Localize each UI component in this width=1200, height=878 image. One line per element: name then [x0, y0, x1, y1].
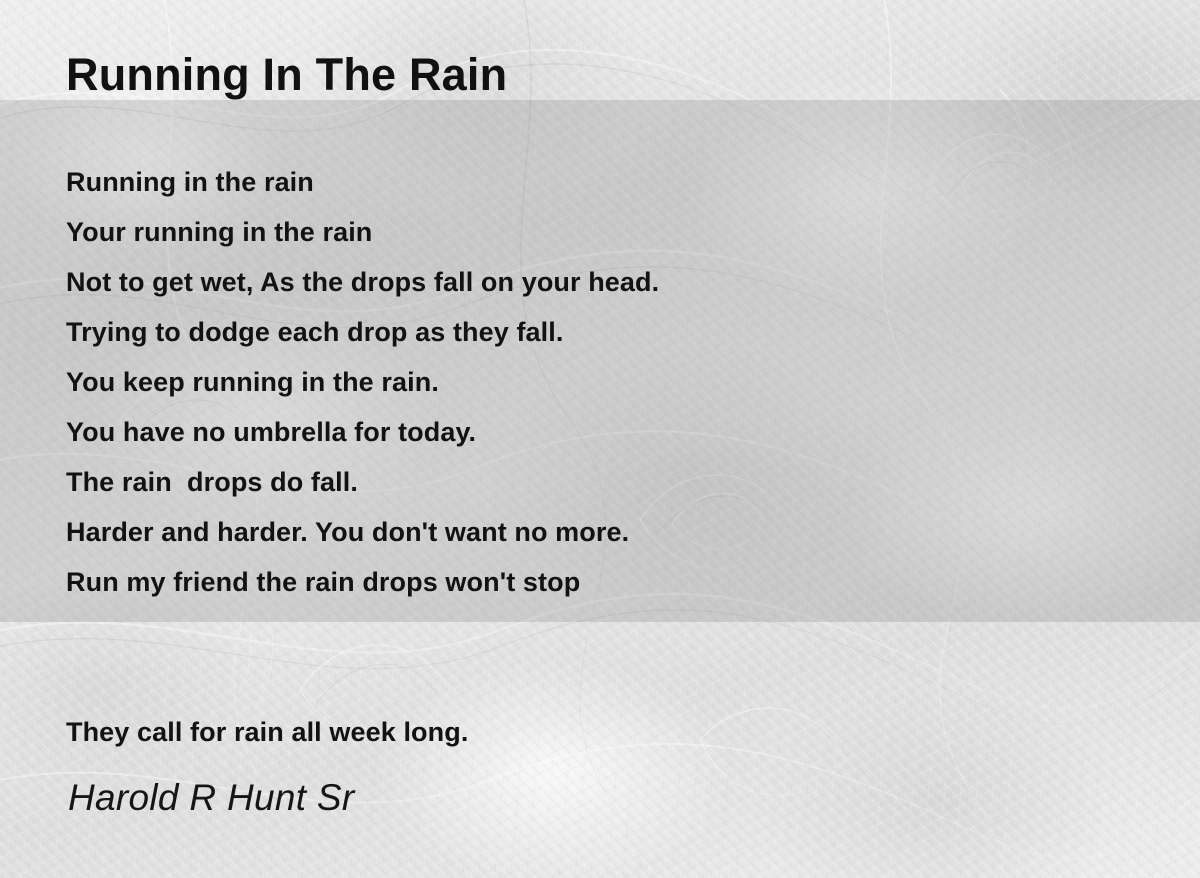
poem-line: You have no umbrella for today. — [66, 407, 1066, 457]
poem-line: Harder and harder. You don't want no mor… — [66, 507, 1066, 557]
poem-line: Run my friend the rain drops won't stop — [66, 557, 1066, 607]
poem-line-blank — [66, 607, 1066, 657]
poem-content: Running In The Rain Running in the rain … — [0, 0, 1200, 878]
poem-line: Running in the rain — [66, 157, 1066, 207]
poem-line: They call for rain all week long. — [66, 707, 1066, 757]
poem-line: Your running in the rain — [66, 207, 1066, 257]
poem-line: Not to get wet, As the drops fall on you… — [66, 257, 1066, 307]
author-signature: Harold R Hunt Sr — [68, 777, 355, 819]
poem-card: Running In The Rain Running in the rain … — [0, 0, 1200, 878]
page-title: Running In The Rain — [66, 49, 507, 101]
poem-line: Trying to dodge each drop as they fall. — [66, 307, 1066, 357]
poem-line-blank — [66, 657, 1066, 707]
poem-line: You keep running in the rain. — [66, 357, 1066, 407]
poem-body: Running in the rain Your running in the … — [66, 157, 1066, 757]
poem-line: The rain drops do fall. — [66, 457, 1066, 507]
